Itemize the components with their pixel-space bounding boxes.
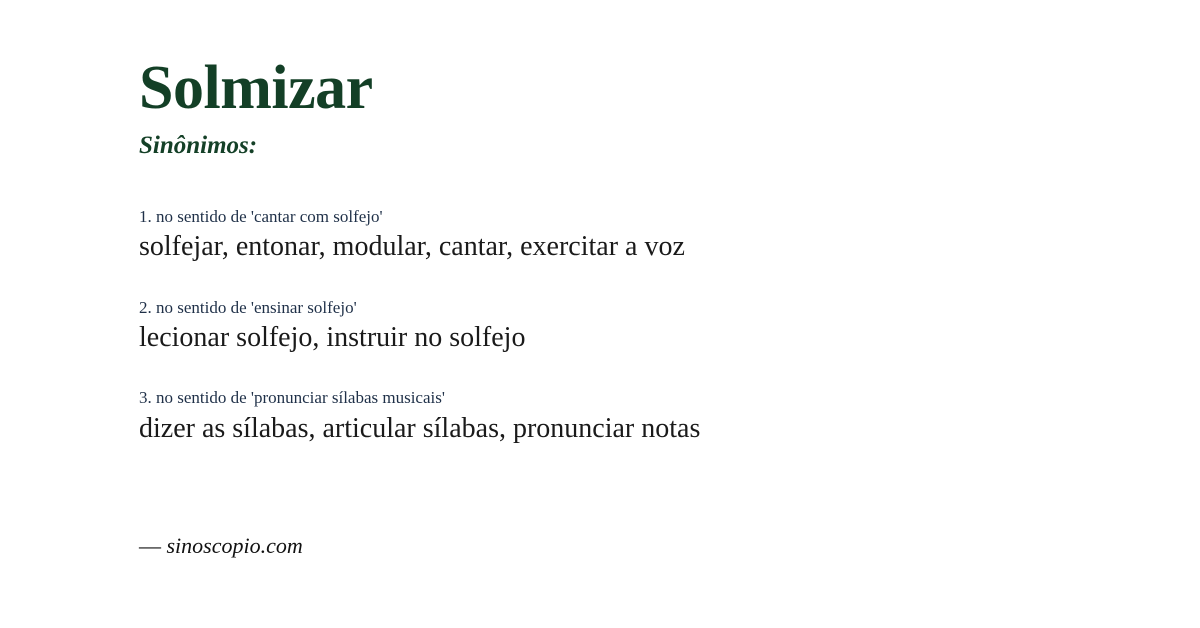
sense-entry: 3. no sentido de 'pronunciar sílabas mus… <box>139 387 1139 447</box>
em-dash-icon: — <box>139 533 161 558</box>
source-attribution: — sinoscopio.com <box>139 533 303 559</box>
sense-entry: 1. no sentido de 'cantar com solfejo' so… <box>139 206 1139 266</box>
sense-entry: 2. no sentido de 'ensinar solfejo' lecio… <box>139 297 1139 357</box>
sense-label: 2. no sentido de 'ensinar solfejo' <box>139 297 1139 318</box>
thesaurus-card: Solmizar Sinônimos: 1. no sentido de 'ca… <box>0 0 1200 628</box>
page-title: Solmizar <box>139 57 373 119</box>
source-name: sinoscopio.com <box>167 533 303 558</box>
sense-synonyms: dizer as sílabas, articular sílabas, pro… <box>139 411 1139 447</box>
sense-synonyms: lecionar solfejo, instruir no solfejo <box>139 320 1139 356</box>
sense-label: 3. no sentido de 'pronunciar sílabas mus… <box>139 387 1139 408</box>
sense-list: 1. no sentido de 'cantar com solfejo' so… <box>139 206 1139 447</box>
sense-label: 1. no sentido de 'cantar com solfejo' <box>139 206 1139 227</box>
subtitle-synonyms-heading: Sinônimos: <box>139 133 257 158</box>
sense-synonyms: solfejar, entonar, modular, cantar, exer… <box>139 229 1139 265</box>
